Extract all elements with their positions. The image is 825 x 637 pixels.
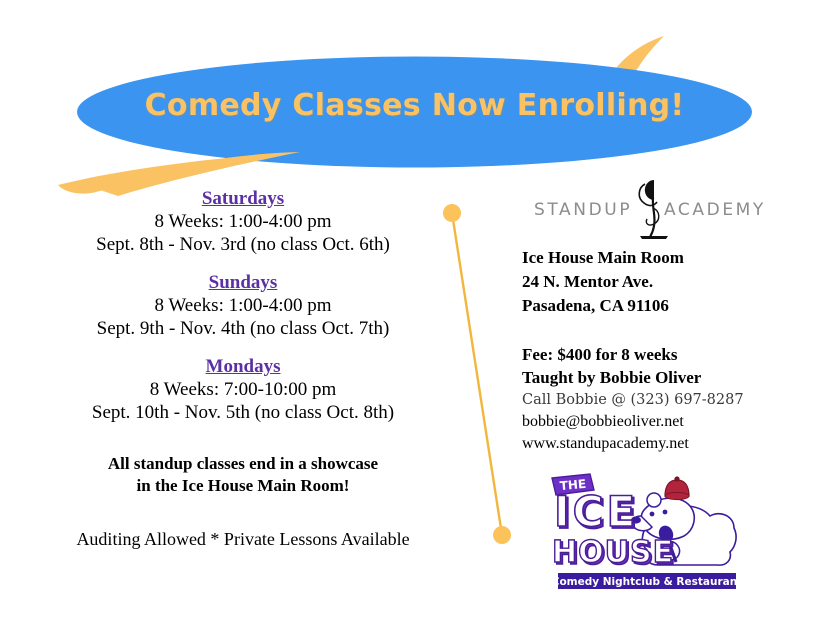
divider-dot-bottom (493, 526, 511, 544)
academy-logo-word-standup: STANDUP (534, 200, 632, 220)
phone-text[interactable]: Call Bobbie @ (323) 697-8287 (522, 390, 812, 411)
divider-dot-top (443, 204, 461, 222)
showcase-note: All standup classes end in a showcase in… (48, 453, 438, 497)
flyer-canvas: Comedy Classes Now Enrolling! Saturdays … (0, 0, 825, 637)
address-details-gap (522, 318, 812, 344)
showcase-line-2: in the Ice House Main Room! (48, 475, 438, 497)
showcase-line-1: All standup classes end in a showcase (48, 453, 438, 475)
day-dates-sundays: Sept. 9th - Nov. 4th (no class Oct. 7th) (48, 317, 438, 340)
day-dates-saturdays: Sept. 8th - Nov. 3rd (no class Oct. 6th) (48, 233, 438, 256)
ice-house-word-ice: ICE ICE (554, 487, 640, 538)
schedule-block-mondays: Mondays 8 Weeks: 7:00-10:00 pm Sept. 10t… (48, 356, 438, 424)
day-time-mondays: 8 Weeks: 7:00-10:00 pm (48, 378, 438, 401)
venue-name: Ice House Main Room (522, 246, 812, 270)
page-title: Comedy Classes Now Enrolling! (77, 88, 752, 123)
divider-line-shape (452, 213, 502, 535)
ice-house-word-house: HOUSE HOUSE (552, 535, 676, 572)
divider-graphics (430, 195, 530, 555)
day-heading-saturdays: Saturdays (48, 188, 438, 210)
day-dates-mondays: Sept. 10th - Nov. 5th (no class Oct. 8th… (48, 401, 438, 424)
ice-house-logo: THE ICE ICE HOUSE HOUSE Comedy Nightclub… (548, 470, 748, 595)
svg-text:ICE: ICE (554, 487, 638, 536)
venue-street: 24 N. Mentor Ave. (522, 270, 812, 294)
day-time-saturdays: 8 Weeks: 1:00-4:00 pm (48, 210, 438, 233)
standup-academy-logo: STANDUP ACADEMY (532, 178, 782, 240)
day-heading-mondays: Mondays (48, 356, 438, 378)
fee-text: Fee: $400 for 8 weeks (522, 344, 812, 367)
day-time-sundays: 8 Weeks: 1:00-4:00 pm (48, 294, 438, 317)
header-banner: Comedy Classes Now Enrolling! (0, 0, 825, 200)
ice-house-logo-graphics: THE ICE ICE HOUSE HOUSE Comedy Nightclub… (548, 470, 748, 595)
instructor-text: Taught by Bobbie Oliver (522, 367, 812, 390)
venue-citystate: Pasadena, CA 91106 (522, 294, 812, 318)
website-text[interactable]: www.standupacademy.net (522, 433, 812, 455)
email-text[interactable]: bobbie@bobbieoliver.net (522, 411, 812, 433)
ice-house-tagline: Comedy Nightclub & Restaurant (552, 573, 742, 589)
venue-info-column: STANDUP ACADEMY Ice House Main Room 24 N… (522, 178, 812, 455)
schedule-block-sundays: Sundays 8 Weeks: 1:00-4:00 pm Sept. 9th … (48, 272, 438, 340)
decorative-divider (430, 195, 530, 555)
svg-text:HOUSE: HOUSE (552, 535, 674, 570)
auditing-note: Auditing Allowed * Private Lessons Avail… (48, 529, 438, 550)
svg-text:Comedy Nightclub & Restaurant: Comedy Nightclub & Restaurant (552, 576, 742, 588)
schedule-gap-3 (48, 425, 438, 453)
class-schedule: Saturdays 8 Weeks: 1:00-4:00 pm Sept. 8t… (48, 188, 438, 550)
schedule-gap-4 (48, 497, 438, 529)
venue-address: Ice House Main Room 24 N. Mentor Ave. Pa… (522, 246, 812, 318)
schedule-gap-1 (48, 256, 438, 272)
schedule-gap-2 (48, 340, 438, 356)
schedule-block-saturdays: Saturdays 8 Weeks: 1:00-4:00 pm Sept. 8t… (48, 188, 438, 256)
class-details: Fee: $400 for 8 weeks Taught by Bobbie O… (522, 344, 812, 455)
academy-logo-word-academy: ACADEMY (664, 200, 766, 220)
day-heading-sundays: Sundays (48, 272, 438, 294)
